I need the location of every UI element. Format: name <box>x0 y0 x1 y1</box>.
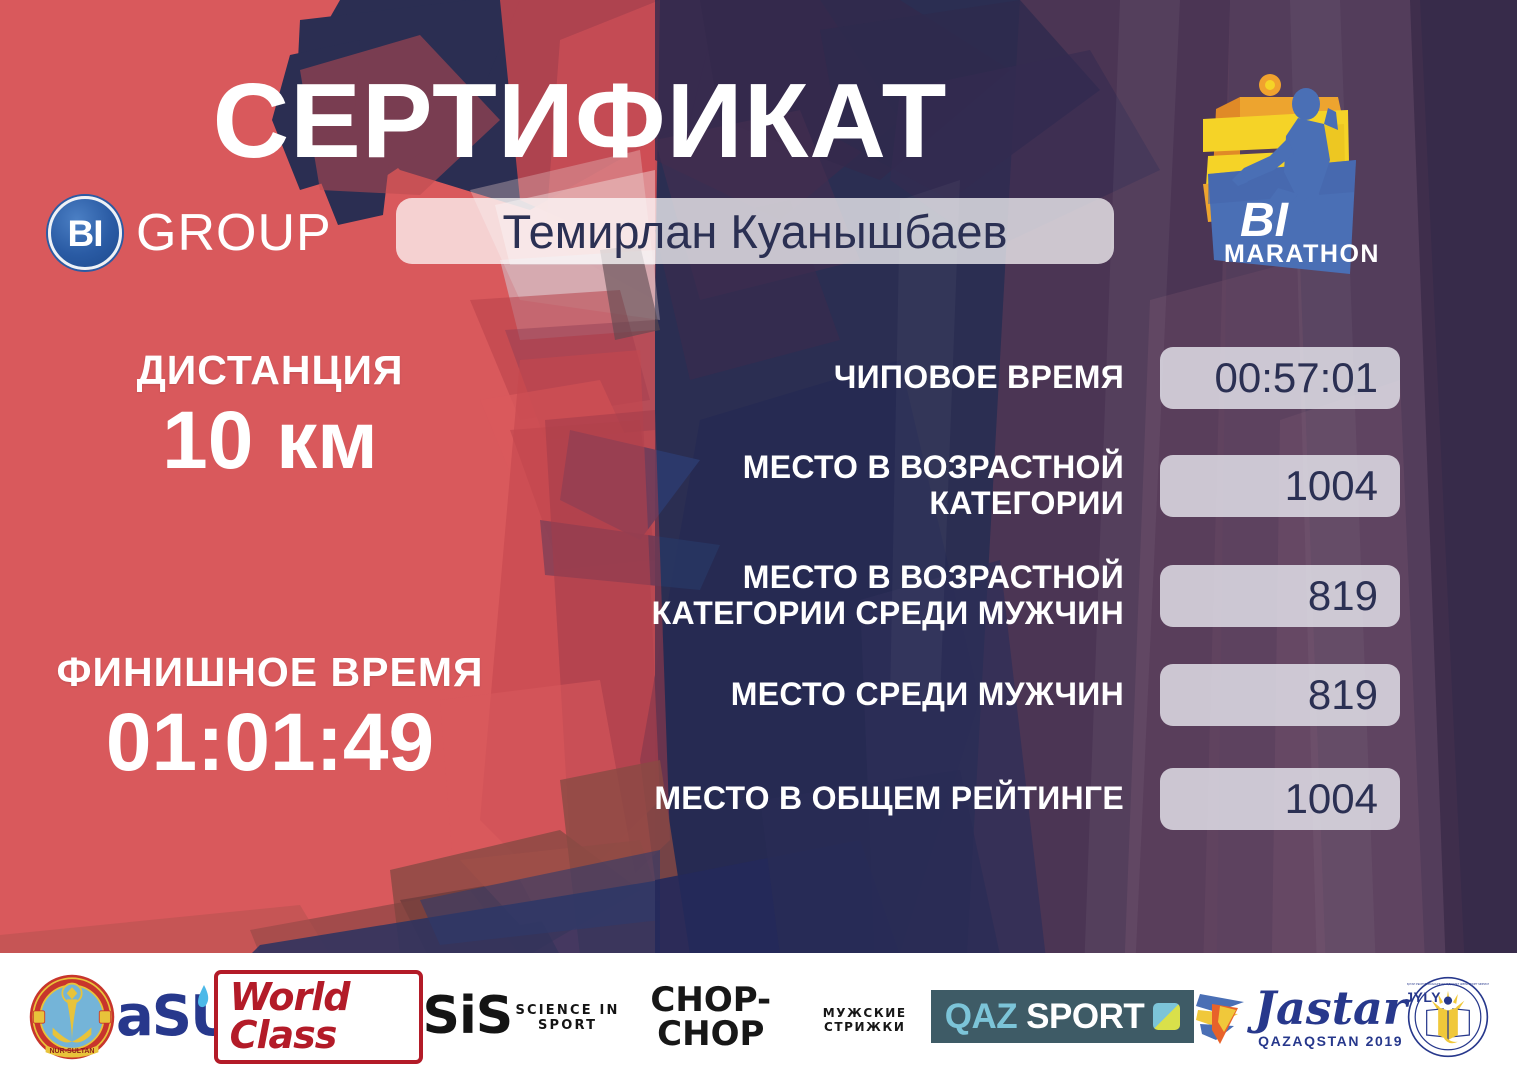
stat-value-badge: 1004 <box>1160 768 1400 830</box>
stat-row: ЧИПОВОЕ ВРЕМЯ 00:57:01 <box>600 347 1400 409</box>
sponsor-world-class: World Class <box>214 970 423 1064</box>
nur-sultan-emblem-icon: NUR-SULTAN <box>28 973 116 1061</box>
sis-wordmark: SiS <box>423 992 513 1041</box>
jastar-jyly-text: JYLY <box>1405 989 1441 1005</box>
jastar-subtext: QAZAQSTAN 2019 <box>1254 1033 1407 1049</box>
sponsor-qazsport: QAZ SPORT <box>931 990 1194 1043</box>
certificate-canvas: BI GROUP СЕРТИФИКАТ Темирлан Куанышбаев <box>0 0 1517 1080</box>
stat-label: МЕСТО В ОБЩЕМ РЕЙТИНГЕ <box>600 781 1160 817</box>
stat-value: 819 <box>1308 575 1378 617</box>
stat-row: МЕСТО В ВОЗРАСТНОЙ КАТЕГОРИИ 1004 <box>600 450 1400 522</box>
stat-value: 00:57:01 <box>1215 357 1379 399</box>
stat-value: 819 <box>1308 674 1378 716</box>
qazsport-qaz-text: QAZ <box>945 999 1017 1034</box>
participant-name: Темирлан Куанышбаев <box>503 208 1008 255</box>
qazsport-square-icon <box>1153 1003 1180 1030</box>
stat-label: МЕСТО В ВОЗРАСТНОЙ КАТЕГОРИИ <box>600 450 1160 522</box>
bi-badge-icon: BI <box>48 196 122 270</box>
world-class-wordmark: World Class <box>230 975 350 1057</box>
sponsor-jastar: Jastar JYLY QAZAQSTAN 2019 <box>1194 985 1407 1049</box>
distance-block: ДИСТАНЦИЯ 10 км <box>30 348 510 486</box>
finish-time-value: 01:01:49 <box>30 698 510 788</box>
certificate-title: СЕРТИФИКАТ <box>0 62 1160 181</box>
jastar-bird-icon <box>1194 986 1248 1048</box>
stat-label: МЕСТО СРЕДИ МУЖЧИН <box>600 677 1160 713</box>
sponsor-chop-chop: CHOP-CHOP МУЖСКИЕ СТРИЖКИ <box>623 983 931 1051</box>
sis-tagline: SCIENCE IN SPORT <box>512 1003 623 1033</box>
jastar-wordmark: Jastar <box>1254 985 1407 1031</box>
chop-chop-tagline: МУЖСКИЕ СТРИЖКИ <box>799 1006 931 1034</box>
bi-group-logo: BI GROUP <box>48 196 332 270</box>
distance-label: ДИСТАНЦИЯ <box>30 348 510 394</box>
stat-value-badge: 1004 <box>1160 455 1400 517</box>
stat-value-badge: 819 <box>1160 664 1400 726</box>
nur-sultan-emblem-label: NUR-SULTAN <box>49 1048 94 1055</box>
stat-value-badge: 00:57:01 <box>1160 347 1400 409</box>
stat-value: 1004 <box>1285 778 1378 820</box>
stat-row: МЕСТО СРЕДИ МУЖЧИН 819 <box>600 664 1400 726</box>
participant-name-badge: Темирлан Куанышбаев <box>396 198 1114 264</box>
bi-marathon-logo: BI MARATHON <box>1178 64 1378 304</box>
chop-chop-wordmark: CHOP-CHOP <box>623 983 799 1051</box>
sponsor-strip: NUR-SULTAN aSU World Class SiS SCIENCE I… <box>0 953 1517 1080</box>
finish-time-label: ФИНИШНОЕ ВРЕМЯ <box>30 650 510 696</box>
sponsor-nur-sultan: NUR-SULTAN <box>28 973 116 1061</box>
finish-time-block: ФИНИШНОЕ ВРЕМЯ 01:01:49 <box>30 650 510 788</box>
distance-value: 10 км <box>30 396 510 486</box>
ministry-emblem-label: ҚАЗАҚСТАН РЕСПУБЛИКАСЫНЫҢ МӘДЕНИЕТ ЖӘНЕ … <box>1407 982 1489 986</box>
stat-label: МЕСТО В ВОЗРАСТНОЙ КАТЕГОРИИ СРЕДИ МУЖЧИ… <box>600 560 1160 632</box>
sponsor-sis: SiS SCIENCE IN SPORT <box>423 992 623 1041</box>
qazsport-box: QAZ SPORT <box>931 990 1194 1043</box>
marathon-word-text: MARATHON <box>1224 240 1378 268</box>
sponsor-asu: aSU <box>116 989 214 1045</box>
stat-row: МЕСТО В ОБЩЕМ РЕЙТИНГЕ 1004 <box>600 768 1400 830</box>
stat-row: МЕСТО В ВОЗРАСТНОЙ КАТЕГОРИИ СРЕДИ МУЖЧИ… <box>600 560 1400 632</box>
bi-group-wordmark: GROUP <box>136 207 332 259</box>
qazsport-sport-text: SPORT <box>1026 999 1144 1034</box>
stat-label: ЧИПОВОЕ ВРЕМЯ <box>600 360 1160 396</box>
bi-badge-label: BI <box>68 215 103 252</box>
stat-value-badge: 819 <box>1160 565 1400 627</box>
world-class-box: World Class <box>214 970 423 1064</box>
asu-droplet-icon <box>194 985 214 1011</box>
stat-value: 1004 <box>1285 465 1378 507</box>
